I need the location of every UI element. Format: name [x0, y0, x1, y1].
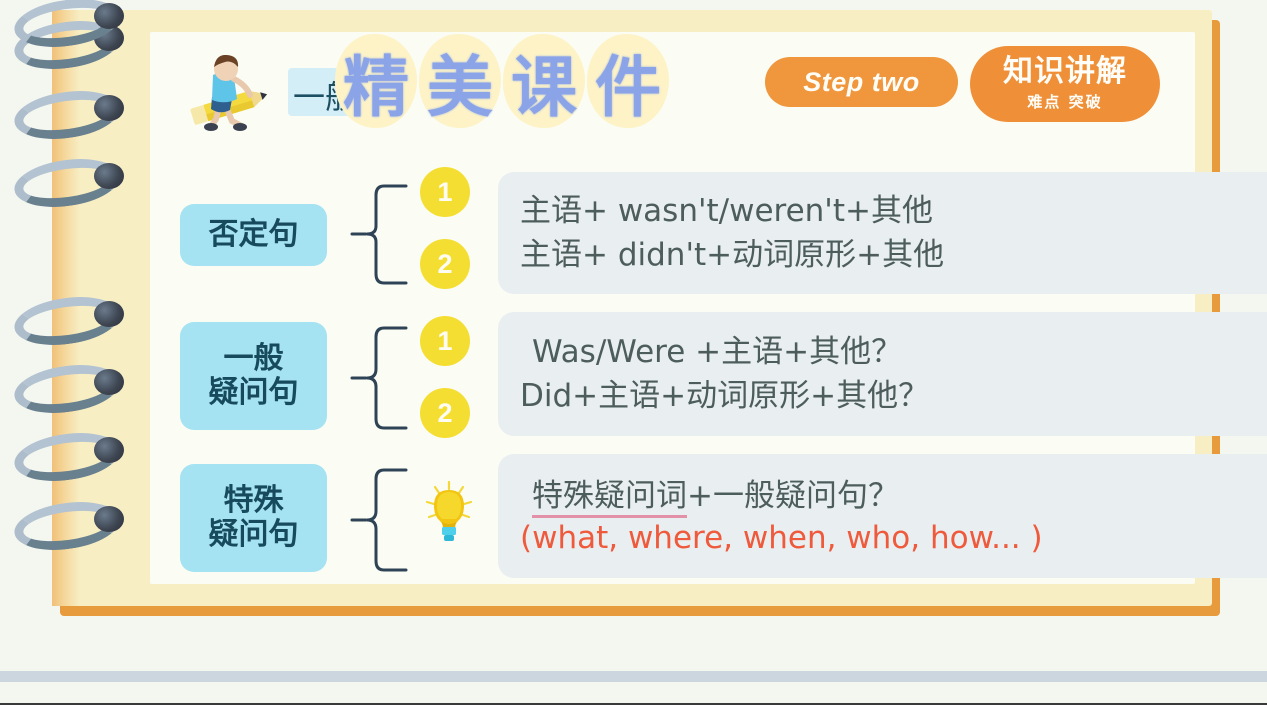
category-label-special-question: 特殊 疑问句: [180, 464, 327, 572]
bottom-progress-bar[interactable]: [0, 671, 1267, 682]
category-line: 特殊: [224, 484, 284, 518]
formula-line: 主语+ didn't+动词原形+其他: [520, 233, 1267, 277]
number-badge: 1: [420, 316, 470, 366]
lightbulb-icon: [420, 476, 478, 550]
content-panel-special-question: 特殊疑问词+一般疑问句？ (what, where, when, who, ho…: [498, 454, 1267, 578]
watermark-char: 精: [334, 30, 418, 134]
formula-rest: +一般疑问句？: [687, 478, 899, 514]
knowledge-badge-title: 知识讲解: [1003, 56, 1127, 88]
category-line: 疑问句: [209, 376, 299, 410]
spiral-ring-icon: [14, 0, 120, 46]
category-line: 疑问句: [209, 518, 299, 552]
knowledge-badge-subtitle: 难点 突破: [1027, 91, 1102, 112]
row-markers: 1 2: [420, 316, 478, 432]
formula-line: Was/Were +主语+其他？: [520, 330, 1267, 374]
brace-connector: [350, 182, 410, 287]
knowledge-badge: 知识讲解 难点 突破: [970, 46, 1160, 122]
spiral-ring-icon: [14, 366, 120, 412]
spiral-binding: [0, 0, 130, 705]
number-badge: 2: [420, 388, 470, 438]
formula-line: 主语+ wasn't/weren't+其他: [520, 189, 1267, 233]
underlined-term: 特殊疑问词: [532, 478, 687, 518]
brace-connector: [350, 324, 410, 432]
step-badge: Step two: [765, 57, 958, 107]
example-words: (what, where, when, who, how... ): [520, 518, 1267, 558]
watermark-char: 美: [418, 30, 502, 134]
formula-line: Did+主语+动词原形+其他？: [520, 374, 1267, 418]
row-markers: 1 2: [420, 172, 478, 280]
slide-canvas: 一般 精 美 课 件 Step two 知识讲解 难点 突破 否定句 1 2 主…: [0, 0, 1267, 705]
watermark-char: 件: [586, 30, 670, 134]
spiral-ring-icon: [14, 160, 120, 206]
category-line: 否定句: [209, 218, 299, 252]
boy-riding-pencil-icon: [182, 55, 278, 135]
watermark: 精 美 课 件: [334, 30, 670, 134]
category-line: 一般: [224, 342, 284, 376]
content-panel-negative: 主语+ wasn't/weren't+其他 主语+ didn't+动词原形+其他: [498, 172, 1267, 294]
number-badge: 2: [420, 239, 470, 289]
formula-line: 特殊疑问词+一般疑问句？: [520, 474, 1267, 518]
brace-connector: [350, 466, 410, 574]
spiral-ring-icon: [14, 298, 120, 344]
watermark-char: 课: [502, 30, 586, 134]
spiral-ring-icon: [14, 434, 120, 480]
category-label-general-question: 一般 疑问句: [180, 322, 327, 430]
content-panel-general-question: Was/Were +主语+其他？ Did+主语+动词原形+其他？: [498, 312, 1267, 436]
row-markers: [420, 458, 478, 574]
spiral-ring-icon: [14, 92, 120, 138]
spiral-ring-icon: [14, 503, 120, 549]
category-label-negative: 否定句: [180, 204, 327, 266]
number-badge: 1: [420, 167, 470, 217]
